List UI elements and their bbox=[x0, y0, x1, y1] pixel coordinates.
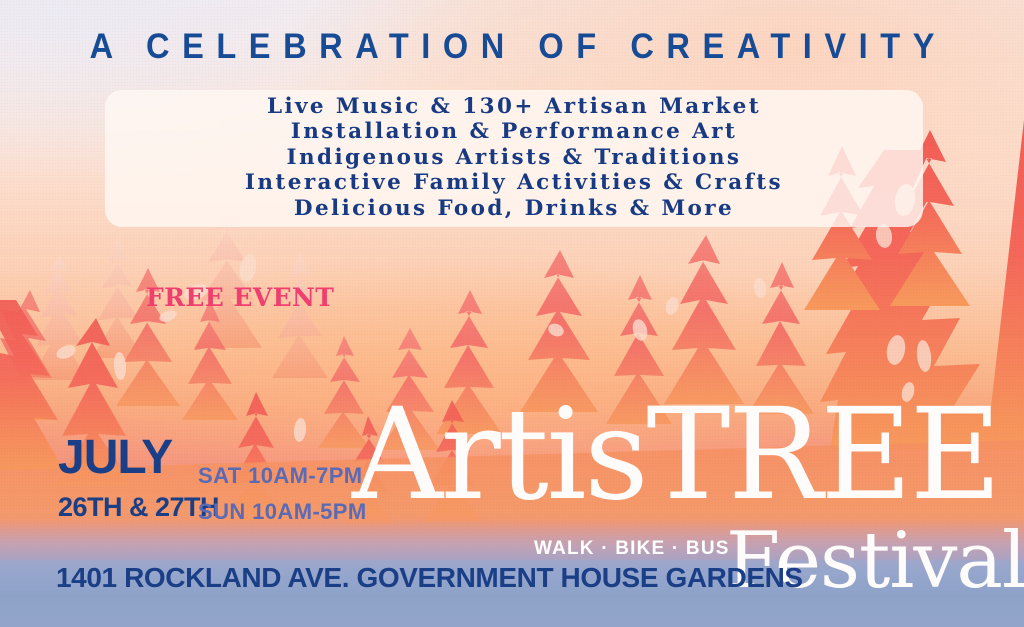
hours-block: SAT 10AM-7PM SUN 10AM-5PM bbox=[198, 458, 367, 530]
transit-options: WALK · BIKE · BUS bbox=[534, 538, 730, 560]
info-line: Indigenous Artists & Traditions bbox=[287, 145, 742, 171]
info-line: Live Music & 130+ Artisan Market bbox=[267, 94, 761, 120]
page-title: A CELEBRATION OF CREATIVITY bbox=[36, 27, 988, 67]
info-line: Delicious Food, Drinks & More bbox=[294, 196, 734, 222]
venue-address: 1401 ROCKLAND AVE. GOVERNMENT HOUSE GARD… bbox=[56, 562, 803, 594]
hours-saturday: SAT 10AM-7PM bbox=[198, 458, 367, 494]
status-badge: FREE EVENT bbox=[146, 283, 334, 312]
info-line: Interactive Family Activities & Crafts bbox=[245, 170, 783, 196]
info-line: Installation & Performance Art bbox=[291, 119, 737, 145]
festival-poster: A CELEBRATION OF CREATIVITY Live Music &… bbox=[0, 0, 1024, 627]
festival-wordmark: ArtisTREE bbox=[352, 392, 999, 518]
hours-sunday: SUN 10AM-5PM bbox=[198, 494, 367, 530]
program-highlights-panel: Live Music & 130+ Artisan Market Install… bbox=[105, 90, 923, 227]
